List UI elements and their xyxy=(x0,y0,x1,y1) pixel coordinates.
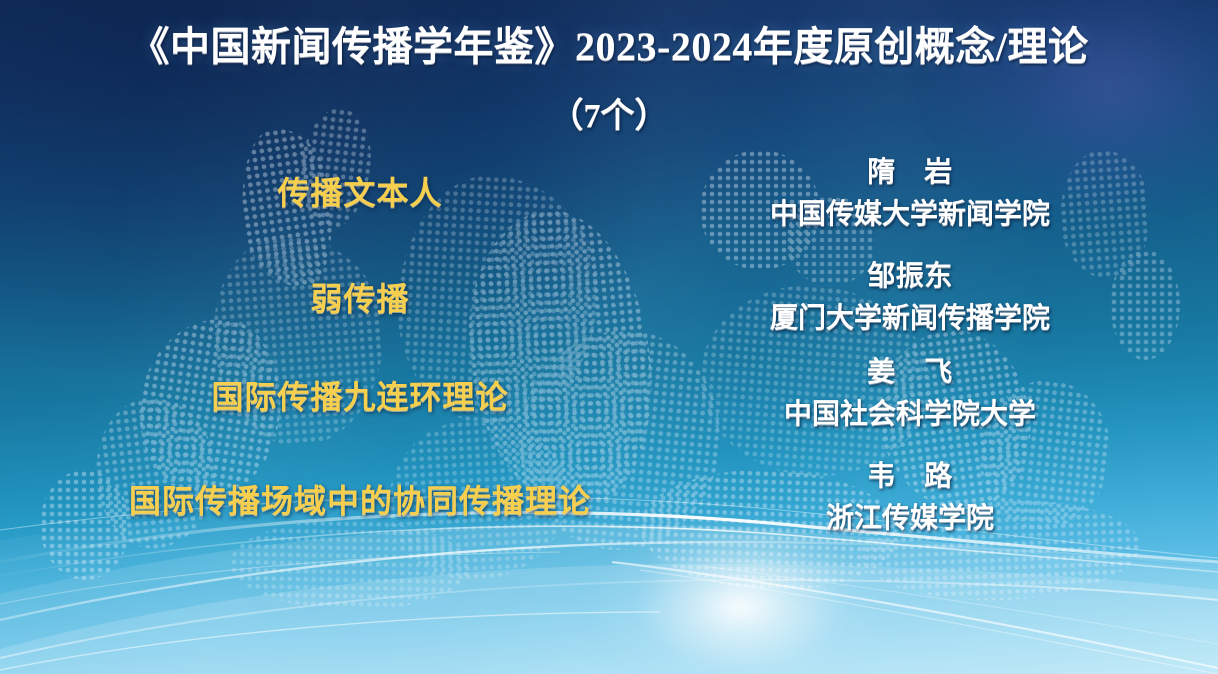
author-name: 韦 路 xyxy=(660,454,1160,494)
concept-label: 弱传播 xyxy=(30,274,690,320)
author-name: 姜 飞 xyxy=(660,350,1160,390)
author-block: 邹振东厦门大学新闻传播学院 xyxy=(660,254,1160,336)
author-affiliation: 浙江传媒学院 xyxy=(660,496,1160,536)
author-block: 隋 岩中国传媒大学新闻学院 xyxy=(660,150,1160,232)
author-affiliation: 厦门大学新闻传播学院 xyxy=(660,296,1160,336)
author-affiliation: 中国社会科学院大学 xyxy=(660,392,1160,432)
slide-subtitle-count: （7个） xyxy=(0,88,1218,137)
author-block: 姜 飞中国社会科学院大学 xyxy=(660,350,1160,432)
author-name: 邹振东 xyxy=(660,254,1160,294)
concept-label: 传播文本人 xyxy=(30,168,690,214)
entries-columns: 传播文本人隋 岩中国传媒大学新闻学院弱传播邹振东厦门大学新闻传播学院国际传播九连… xyxy=(0,150,1218,550)
author-name: 隋 岩 xyxy=(660,150,1160,190)
concept-label: 国际传播九连环理论 xyxy=(30,372,690,418)
author-block: 韦 路浙江传媒学院 xyxy=(660,454,1160,536)
slide-content: 《中国新闻传播学年鉴》2023-2024年度原创概念/理论 （7个） 传播文本人… xyxy=(0,0,1218,674)
concept-label: 国际传播场域中的协同传播理论 xyxy=(30,476,690,522)
author-affiliation: 中国传媒大学新闻学院 xyxy=(660,192,1160,232)
slide-title: 《中国新闻传播学年鉴》2023-2024年度原创概念/理论 xyxy=(0,14,1218,72)
presentation-slide: 《中国新闻传播学年鉴》2023-2024年度原创概念/理论 （7个） 传播文本人… xyxy=(0,0,1218,674)
entry-rows: 传播文本人隋 岩中国传媒大学新闻学院弱传播邹振东厦门大学新闻传播学院国际传播九连… xyxy=(0,150,1218,550)
